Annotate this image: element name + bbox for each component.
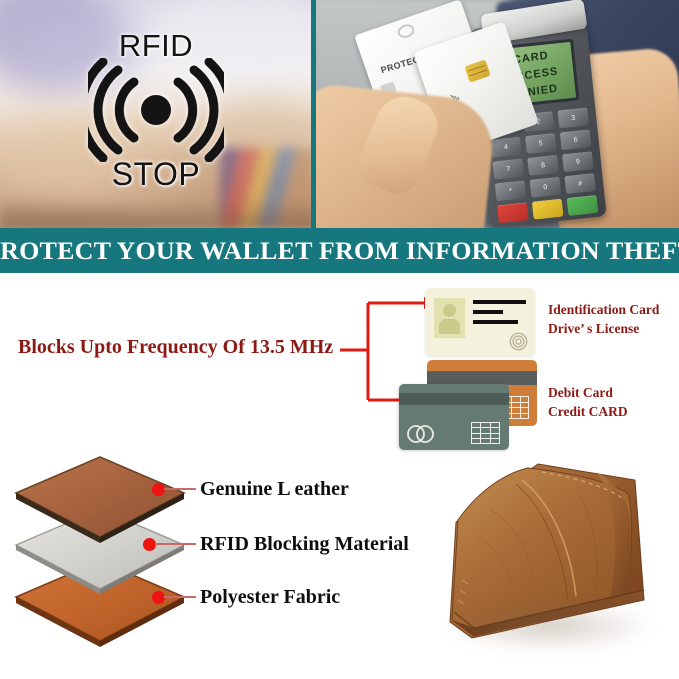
material-layer-diagram xyxy=(8,445,198,655)
rfid-logo-bottom-text: STOP xyxy=(88,156,224,193)
keypad-key[interactable]: 4 xyxy=(490,137,522,158)
wallet-shadow xyxy=(444,600,654,652)
id-photo-head xyxy=(443,304,456,317)
keypad-key[interactable]: 7 xyxy=(492,159,524,180)
layer-label-polyester-fabric: Polyester Fabric xyxy=(200,586,340,609)
id-label-line-2: Drive’ s License xyxy=(548,319,659,338)
keypad-key[interactable]: 3 xyxy=(557,107,589,128)
layer-leader-line xyxy=(164,596,196,598)
pos-terminal-photo: CARD ACCESS DENIED 1 2 3 4 5 6 7 8 9 * 0 xyxy=(316,0,679,228)
id-photo-body xyxy=(439,319,460,334)
product-infographic: RFID STOP xyxy=(0,0,679,679)
identification-card-graphic xyxy=(425,288,535,356)
photo-strip: RFID STOP xyxy=(0,0,679,228)
rfid-stop-logo: RFID STOP xyxy=(88,28,224,198)
card-illustrations xyxy=(425,288,547,438)
payment-card-label: Debit Card Credit CARD xyxy=(548,383,628,421)
clear-key[interactable] xyxy=(532,199,564,220)
identification-card-label: Identification Card Drive’ s License xyxy=(548,300,659,338)
rfid-stop-photo: RFID STOP xyxy=(0,0,315,228)
layer-leader-line xyxy=(155,543,196,545)
id-photo-placeholder xyxy=(434,298,465,338)
sleeve-ring-icon xyxy=(396,22,416,40)
rfid-waves-icon xyxy=(88,58,224,162)
id-text-line xyxy=(473,320,518,324)
layer-label-rfid-blocking-material: RFID Blocking Material xyxy=(200,533,409,556)
photo-divider xyxy=(311,0,316,228)
keypad-key[interactable]: 8 xyxy=(527,155,559,176)
id-label-line-1: Identification Card xyxy=(548,300,659,319)
card-chip-icon xyxy=(464,59,490,82)
magnetic-stripe xyxy=(399,393,509,405)
frequency-claim-text: Blocks Upto Frequency Of 13.5 MHz xyxy=(18,336,333,359)
wallet-product-image xyxy=(430,450,672,665)
enter-key[interactable] xyxy=(567,195,599,216)
payment-label-line-2: Credit CARD xyxy=(548,402,628,421)
keypad-key[interactable]: 5 xyxy=(525,133,557,154)
card-signature-panel xyxy=(471,422,500,444)
card-network-logo-icon xyxy=(406,424,440,444)
keypad-key[interactable]: 0 xyxy=(529,177,561,198)
banner-text: PROTECT YOUR WALLET FROM INFORMATION THE… xyxy=(0,236,679,266)
magnetic-stripe xyxy=(427,371,537,385)
id-seal-icon xyxy=(509,332,528,351)
keypad-key[interactable]: 9 xyxy=(562,151,594,172)
payment-label-line-1: Debit Card xyxy=(548,383,628,402)
green-payment-card-graphic xyxy=(399,384,509,450)
id-text-line xyxy=(473,310,503,314)
headline-banner: PROTECT YOUR WALLET FROM INFORMATION THE… xyxy=(0,228,679,273)
photo-shadow xyxy=(0,198,315,228)
layer-leader-line xyxy=(164,488,196,490)
keypad-key[interactable]: * xyxy=(495,180,527,201)
keypad-key[interactable]: # xyxy=(564,173,596,194)
cancel-key[interactable] xyxy=(497,202,529,223)
layer-label-genuine-leather: Genuine L eather xyxy=(200,478,349,501)
id-text-line xyxy=(473,300,526,304)
keypad-key[interactable]: 6 xyxy=(560,129,592,150)
